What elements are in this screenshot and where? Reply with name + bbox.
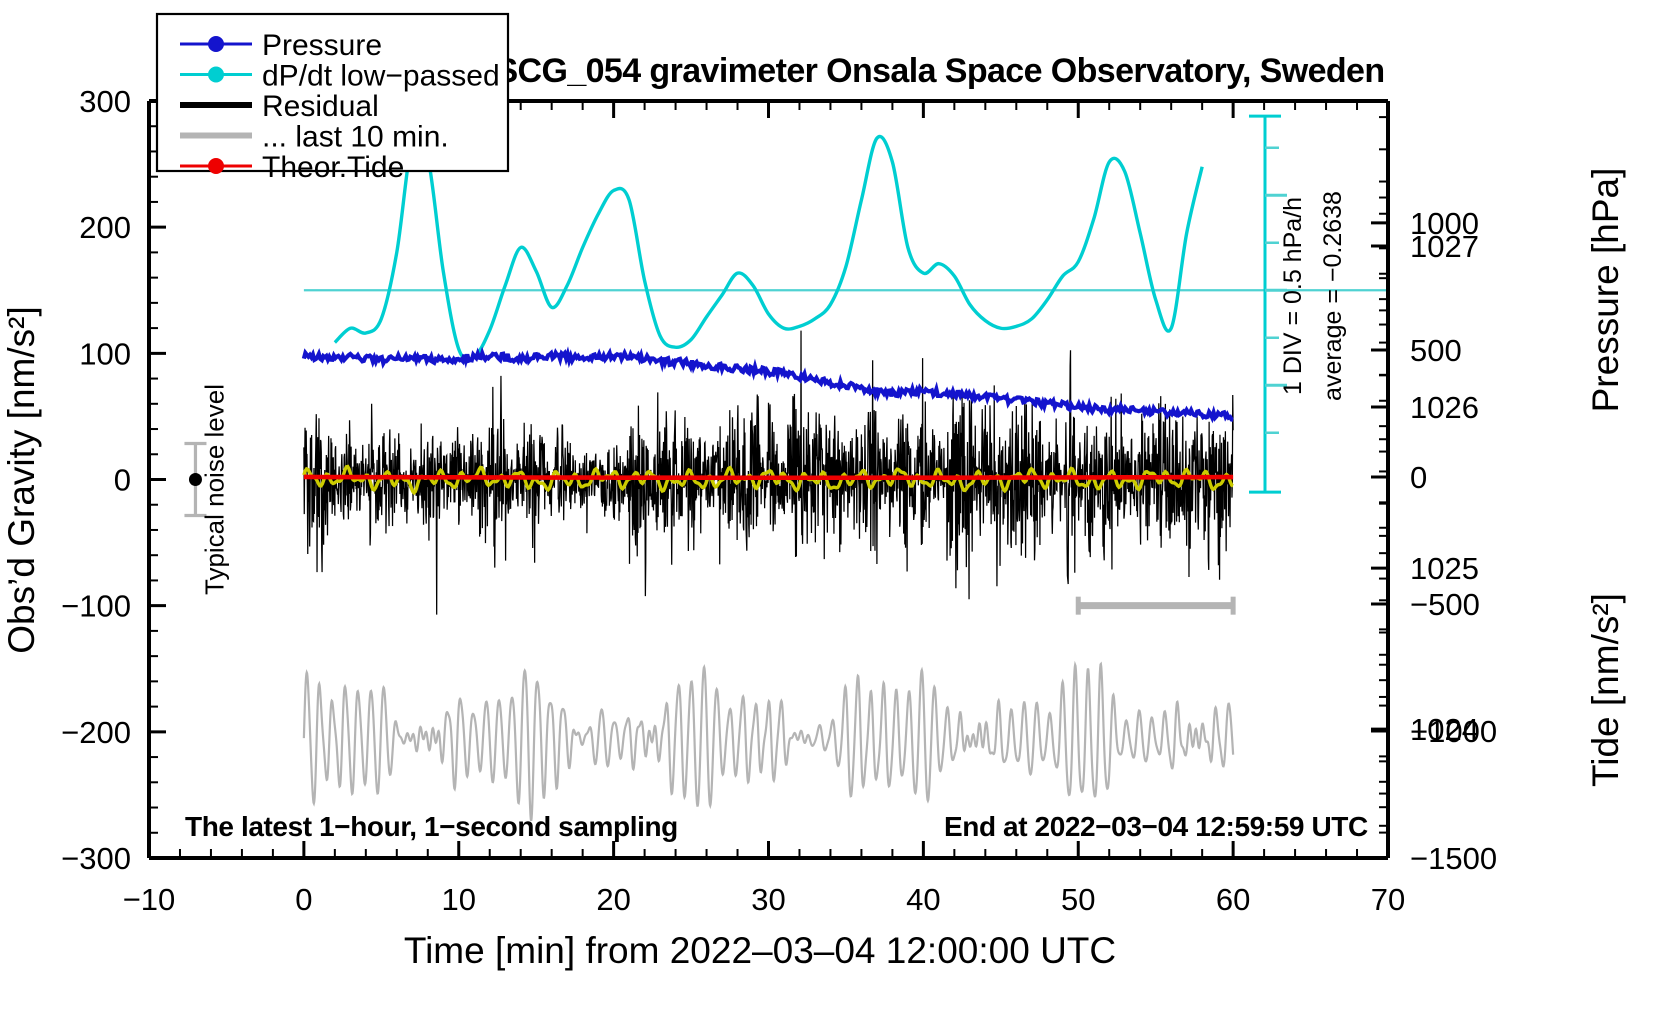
typical-noise-level-label: Typical noise level: [199, 384, 229, 595]
y-tick-label: 300: [79, 84, 131, 119]
y-tick-label: 0: [114, 463, 131, 498]
pressure-tick-label: 1025: [1410, 551, 1479, 586]
footer-right-annotation: End at 2022−03−04 12:59:59 UTC: [944, 811, 1368, 842]
chart-page: Typical noise level −1001020304050607030…: [0, 0, 1660, 1020]
tide-tick-label: −1500: [1410, 841, 1497, 876]
x-axis-title: Time [min] from 2022‒03‒04 12:00:00 UTC: [404, 930, 1116, 971]
x-tick-label: 70: [1371, 882, 1405, 917]
legend-label: Pressure: [262, 29, 382, 62]
tide-axis-title: Tide [nm/s²]: [1585, 593, 1626, 787]
y-axis-title: Obs’d Gravity [nm/s²]: [1, 306, 42, 653]
x-tick-label: 0: [295, 882, 312, 917]
tide-tick-label: −500: [1410, 587, 1480, 622]
x-tick-label: 30: [751, 882, 785, 917]
footer-left-annotation: The latest 1−hour, 1−second sampling: [185, 811, 678, 842]
x-tick-label: 20: [596, 882, 630, 917]
legend[interactable]: PressuredP/dt low−passedResidual... last…: [157, 14, 508, 184]
pressure-tick-label: 1026: [1410, 390, 1479, 425]
y-tick-label: −300: [61, 841, 131, 876]
legend-label: ... last 10 min.: [262, 121, 449, 154]
tide-tick-label: 1000: [1410, 206, 1479, 241]
gravimeter-chart: Typical noise level −1001020304050607030…: [0, 0, 1660, 1020]
tide-tick-label: 500: [1410, 333, 1462, 368]
page-title: SCG_054 gravimeter Onsala Space Observat…: [495, 52, 1384, 90]
dpdt-average-label: average = −0.2638: [1319, 191, 1347, 401]
pressure-axis-title: Pressure [hPa]: [1585, 168, 1626, 413]
tide-tick-label: −1000: [1410, 714, 1497, 749]
legend-marker-dot: [208, 158, 224, 174]
x-tick-label: 50: [1061, 882, 1095, 917]
legend-marker-dot: [208, 36, 224, 52]
legend-label: Theor.Tide: [262, 151, 404, 184]
y-tick-label: −100: [61, 589, 131, 624]
y-tick-label: 100: [79, 336, 131, 371]
x-tick-label: 60: [1216, 882, 1250, 917]
x-tick-label: 40: [906, 882, 940, 917]
y-tick-label: 200: [79, 210, 131, 245]
x-tick-label: 10: [442, 882, 476, 917]
series-theoretical-tide: [304, 477, 1233, 478]
x-tick-label: −10: [123, 882, 176, 917]
legend-marker-dot: [208, 67, 224, 83]
tide-tick-label: 0: [1410, 460, 1427, 495]
dpdt-div-label: 1 DIV = 0.5 hPa/h: [1279, 197, 1307, 395]
y-tick-label: −200: [61, 715, 131, 750]
legend-label: dP/dt low−passed: [262, 60, 500, 93]
legend-label: Residual: [262, 90, 379, 123]
